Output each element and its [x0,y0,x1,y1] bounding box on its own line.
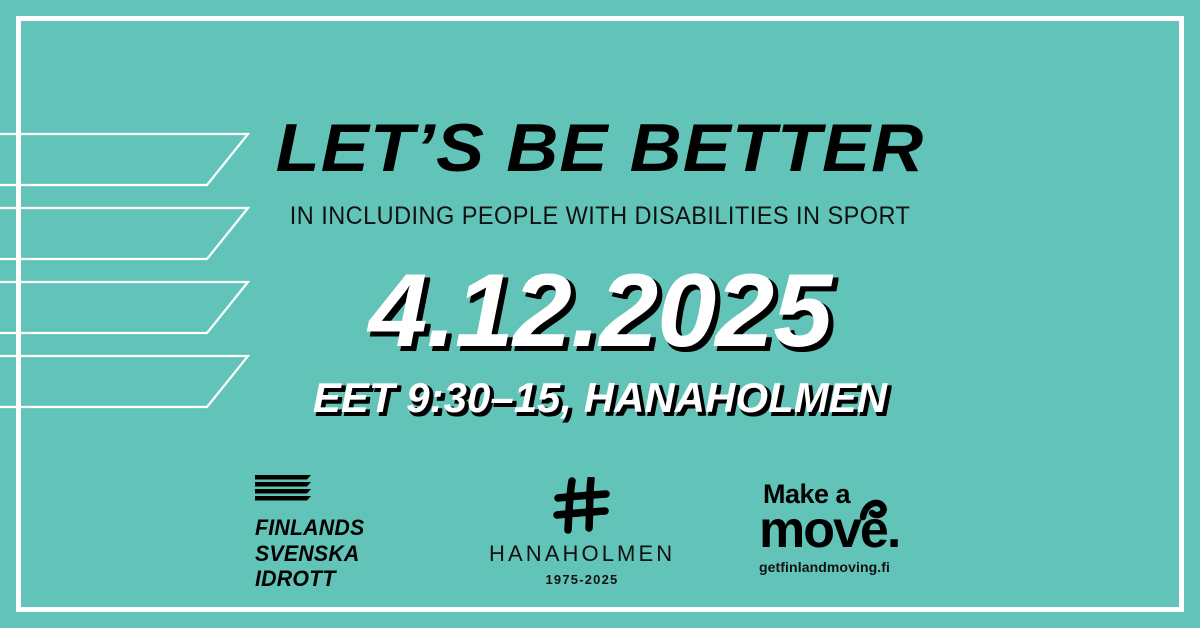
make-a-move-wordmark: Make a move. [759,477,945,555]
logo-finlands-svenska-idrott: FINLANDS SVENSKA IDROTT [255,475,405,592]
logo-hanaholmen: HANAHOLMEN 1975-2025 [489,475,675,586]
event-date: 4.12.2025 [369,259,832,363]
event-poster: LET’S BE BETTER IN INCLUDING PEOPLE WITH… [0,0,1200,628]
stacked-bars-icon [255,475,311,501]
logo-hanaholmen-years: 1975-2025 [489,573,675,586]
sponsor-logo-row: FINLANDS SVENSKA IDROTT HANAHOLMEN 1975-… [0,475,1200,592]
logo-fsi-label: FINLANDS SVENSKA IDROTT [255,515,401,592]
subtitle: IN INCLUDING PEOPLE WITH DISABILITIES IN… [290,204,911,229]
hash-icon [552,477,612,535]
svg-text:move.: move. [759,501,899,555]
logo-make-a-move: Make a move. getfinlandmoving.fi [759,475,945,574]
logo-hanaholmen-label: HANAHOLMEN [489,543,675,565]
poster-content: LET’S BE BETTER IN INCLUDING PEOPLE WITH… [0,0,1200,628]
logo-make-a-move-url: getfinlandmoving.fi [759,560,945,574]
event-time-location: EET 9:30–15, HANAHOLMEN [313,377,887,419]
page-title: LET’S BE BETTER [276,114,925,182]
